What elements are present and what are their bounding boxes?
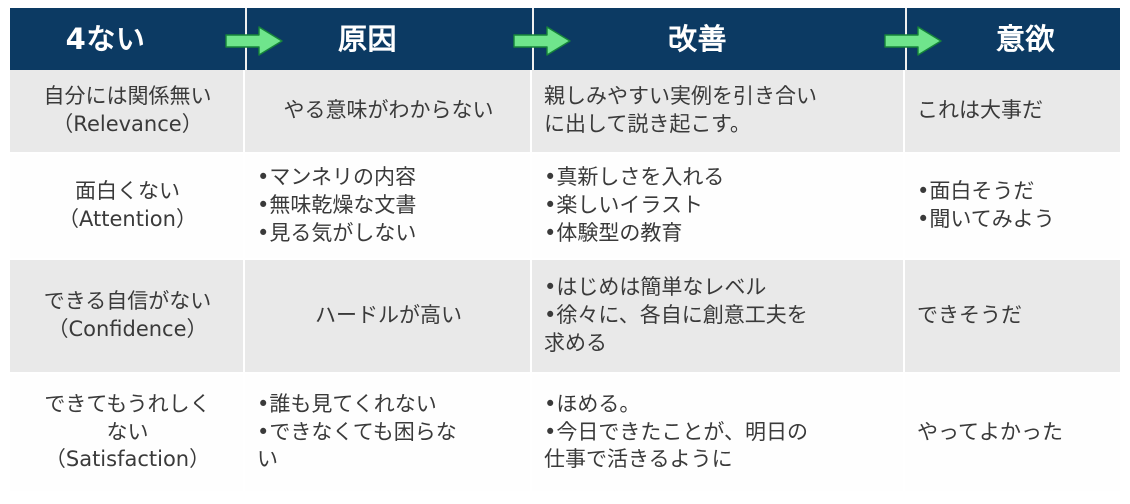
header-cell-kaizen: 改善 <box>532 8 905 70</box>
cell-line: できてもうれしく <box>44 391 210 419</box>
cell-line: •楽しいイラスト <box>544 192 893 220</box>
cell-satisfaction-improvement: •ほめる。 •今日できたことが、明日の 仕事で活きるように <box>532 374 905 493</box>
cell-line: 親しみやすい実例を引き合い <box>544 83 893 111</box>
header-cell-4nai: 4ない <box>10 8 245 70</box>
header-label-kaizen: 改善 <box>668 25 727 54</box>
header-cell-genin: 原因 <box>245 8 532 70</box>
cell-relevance-problem: 自分には関係無い （Relevance） <box>10 70 245 154</box>
cell-line: やる意味がわからない <box>284 97 494 125</box>
cell-line: 面白くない <box>75 178 180 206</box>
arcs-motivation-matrix: 4ない 原因 改善 意欲 <box>10 8 1120 493</box>
cell-line: ハードルが高い <box>315 302 462 330</box>
header-cell-iyoku: 意欲 <box>905 8 1120 70</box>
table-row: 面白くない （Attention） •マンネリの内容 •無味乾燥な文書 •見る気… <box>10 154 1120 260</box>
cell-line: ない <box>107 419 149 447</box>
cell-relevance-motivation: これは大事だ <box>905 70 1120 154</box>
cell-line: •聞いてみよう <box>917 206 1110 234</box>
cell-line: （Confidence） <box>47 316 207 344</box>
cell-confidence-motivation: できそうだ <box>905 260 1120 374</box>
matrix-header-row: 4ない 原因 改善 意欲 <box>10 8 1120 70</box>
cell-line: できる自信がない <box>44 288 212 316</box>
cell-line: これは大事だ <box>917 97 1110 125</box>
cell-attention-cause: •マンネリの内容 •無味乾燥な文書 •見る気がしない <box>245 154 532 260</box>
cell-line: •ほめる。 <box>544 391 893 419</box>
cell-line: •体験型の教育 <box>544 220 893 248</box>
cell-line: •マンネリの内容 <box>257 164 520 192</box>
header-label-genin: 原因 <box>338 25 397 54</box>
cell-confidence-improvement: •はじめは簡単なレベル •徐々に、各自に創意工夫を 求める <box>532 260 905 374</box>
cell-attention-problem: 面白くない （Attention） <box>10 154 245 260</box>
cell-line: •できなくても困らな <box>257 419 520 447</box>
cell-line: •徐々に、各自に創意工夫を <box>544 302 893 330</box>
cell-line: •はじめは簡単なレベル <box>544 274 893 302</box>
cell-attention-motivation: •面白そうだ •聞いてみよう <box>905 154 1120 260</box>
cell-attention-improvement: •真新しさを入れる •楽しいイラスト •体験型の教育 <box>532 154 905 260</box>
cell-relevance-cause: やる意味がわからない <box>245 70 532 154</box>
cell-confidence-problem: できる自信がない （Confidence） <box>10 260 245 374</box>
cell-satisfaction-problem: できてもうれしく ない （Satisfaction） <box>10 374 245 493</box>
cell-line: 仕事で活きるように <box>544 446 893 474</box>
cell-line: •面白そうだ <box>917 178 1110 206</box>
header-label-4nai: 4ない <box>66 25 146 54</box>
table-row: 自分には関係無い （Relevance） やる意味がわからない 親しみやすい実例… <box>10 70 1120 154</box>
slide-canvas: 4ない 原因 改善 意欲 <box>0 0 1130 504</box>
cell-line: （Satisfaction） <box>45 446 210 474</box>
cell-line: •無味乾燥な文書 <box>257 192 520 220</box>
header-label-iyoku: 意欲 <box>996 25 1055 54</box>
cell-relevance-improvement: 親しみやすい実例を引き合い に出して説き起こす。 <box>532 70 905 154</box>
cell-line: できそうだ <box>917 302 1110 330</box>
cell-line: い <box>257 446 520 474</box>
cell-line: 自分には関係無い <box>44 83 212 111</box>
cell-line: •見る気がしない <box>257 220 520 248</box>
cell-line: •誰も見てくれない <box>257 391 520 419</box>
cell-line: やってよかった <box>917 419 1110 447</box>
cell-line: に出して説き起こす。 <box>544 111 893 139</box>
cell-line: 求める <box>544 330 893 358</box>
cell-line: •真新しさを入れる <box>544 164 893 192</box>
cell-satisfaction-cause: •誰も見てくれない •できなくても困らな い <box>245 374 532 493</box>
cell-line: （Relevance） <box>52 111 202 139</box>
table-row: できてもうれしく ない （Satisfaction） •誰も見てくれない •でき… <box>10 374 1120 493</box>
cell-satisfaction-motivation: やってよかった <box>905 374 1120 493</box>
cell-line: •今日できたことが、明日の <box>544 419 893 447</box>
cell-confidence-cause: ハードルが高い <box>245 260 532 374</box>
table-row: できる自信がない （Confidence） ハードルが高い •はじめは簡単なレベ… <box>10 260 1120 374</box>
cell-line: （Attention） <box>58 206 197 234</box>
